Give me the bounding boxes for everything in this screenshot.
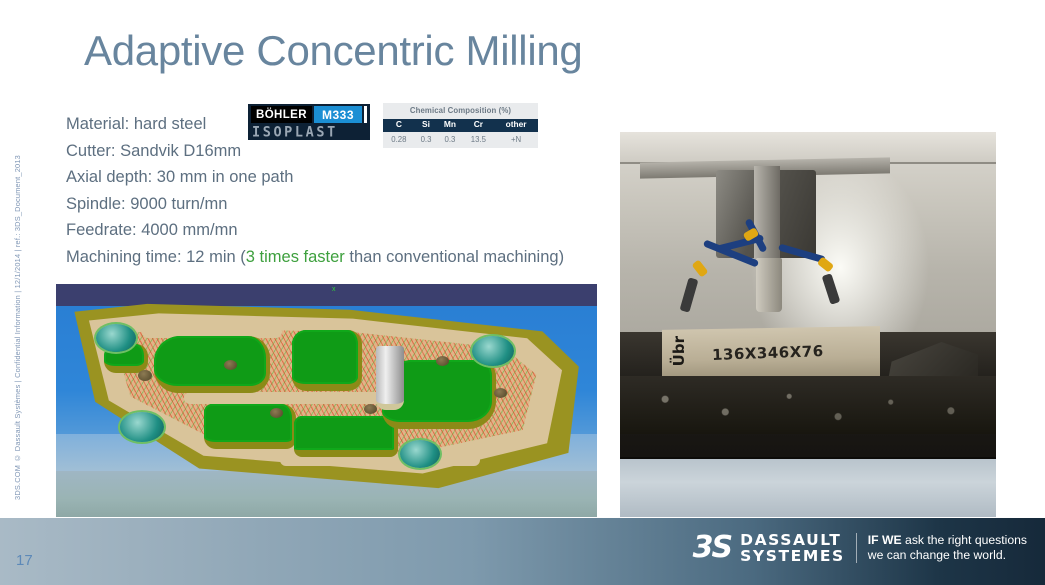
tagline-line2: we can change the world. [868,548,1027,564]
cad-hole [270,408,283,418]
spec-axial-depth: Axial depth: 30 mm in one path [66,164,564,191]
chem-val-cr: 13.5 [463,132,495,148]
metal-chips [620,376,996,434]
spec-machining-time: Machining time: 12 min (3 times faster t… [66,244,564,271]
machining-time-suffix: than conventional machining [349,248,558,266]
spindle-column [754,166,780,266]
machining-time-close-paren: ) [559,248,565,266]
brand-divider [856,533,857,563]
page-title: Adaptive Concentric Milling [84,27,582,75]
cad-pocket [292,330,362,391]
cad-rib-2 [184,392,404,404]
cad-boss [400,440,440,468]
chem-col-other: other [494,119,538,132]
cad-hole [138,370,152,381]
cad-cutting-tool [376,346,404,410]
spindle-tool-holder [756,258,782,312]
bohler-grade-label: M333 [314,106,362,123]
tagline-bold: IF WE [868,533,902,547]
chem-table-header-row: C Si Mn Cr other [383,119,538,132]
chem-table-title: Chemical Composition (%) [383,103,538,119]
cad-toolpath-image: x [56,284,597,517]
spec-feedrate: Feedrate: 4000 mm/mn [66,217,564,244]
machining-time-highlight: 3 times faster [246,248,345,266]
dassault-tagline: IF WE ask the right questions we can cha… [868,533,1027,564]
cad-boss [96,324,136,352]
chem-val-si: 0.3 [415,132,438,148]
confidential-text: 3DS.COM © Dassault Systèmes | Confidenti… [10,155,26,500]
table-row: 0.28 0.3 0.3 13.5 +N [383,132,538,148]
bohler-logo-top-row: BÖHLER M333 [251,106,367,123]
chem-col-mn: Mn [437,119,462,132]
cad-hole [224,360,237,370]
chemical-composition-table: Chemical Composition (%) C Si Mn Cr othe… [383,103,538,148]
cad-pocket [294,416,398,457]
machine-floor [620,459,996,517]
bohler-accent-block [364,106,367,123]
cad-axis-label: x [332,286,336,293]
machining-time-prefix: Machining time: 12 min [66,248,236,266]
workpiece-mark: Übr [670,336,688,366]
cad-boss [472,336,514,366]
chem-col-cr: Cr [463,119,495,132]
dassault-brand: 3S DASSAULT SYSTEMES IF WE ask the right… [693,532,1027,564]
dassault-wordmark-line1: DASSAULT [740,532,845,548]
cad-hole [494,388,507,398]
dassault-logo-icon: 3S [693,533,731,563]
chem-val-other: +N [494,132,538,148]
bohler-brand-label: BÖHLER [251,106,312,123]
confidential-strip: 3DS.COM © Dassault Systèmes | Confidenti… [10,120,26,500]
page-number: 17 [16,552,33,569]
spec-spindle: Spindle: 9000 turn/mn [66,191,564,218]
cad-hole [436,356,449,366]
cnc-machine-photo: Übr 136X346X76 [620,132,996,517]
chem-val-c: 0.28 [383,132,415,148]
cad-boss [120,412,164,442]
footer-bar: 3S DASSAULT SYSTEMES IF WE ask the right… [0,518,1045,585]
chem-col-c: C [383,119,415,132]
tagline-rest: ask the right questions [902,533,1027,547]
tagline-line1: IF WE ask the right questions [868,533,1027,549]
chem-val-mn: 0.3 [437,132,462,148]
cad-pocket [154,336,270,393]
dassault-wordmark-line2: SYSTEMES [740,548,845,564]
chem-col-si: Si [415,119,438,132]
bohler-family-label: ISOPLAST [252,124,370,140]
bohler-logo: BÖHLER M333 ISOPLAST [248,104,370,140]
dassault-wordmark: DASSAULT SYSTEMES [740,532,845,564]
cad-hole [364,404,377,414]
cad-part [64,300,584,496]
